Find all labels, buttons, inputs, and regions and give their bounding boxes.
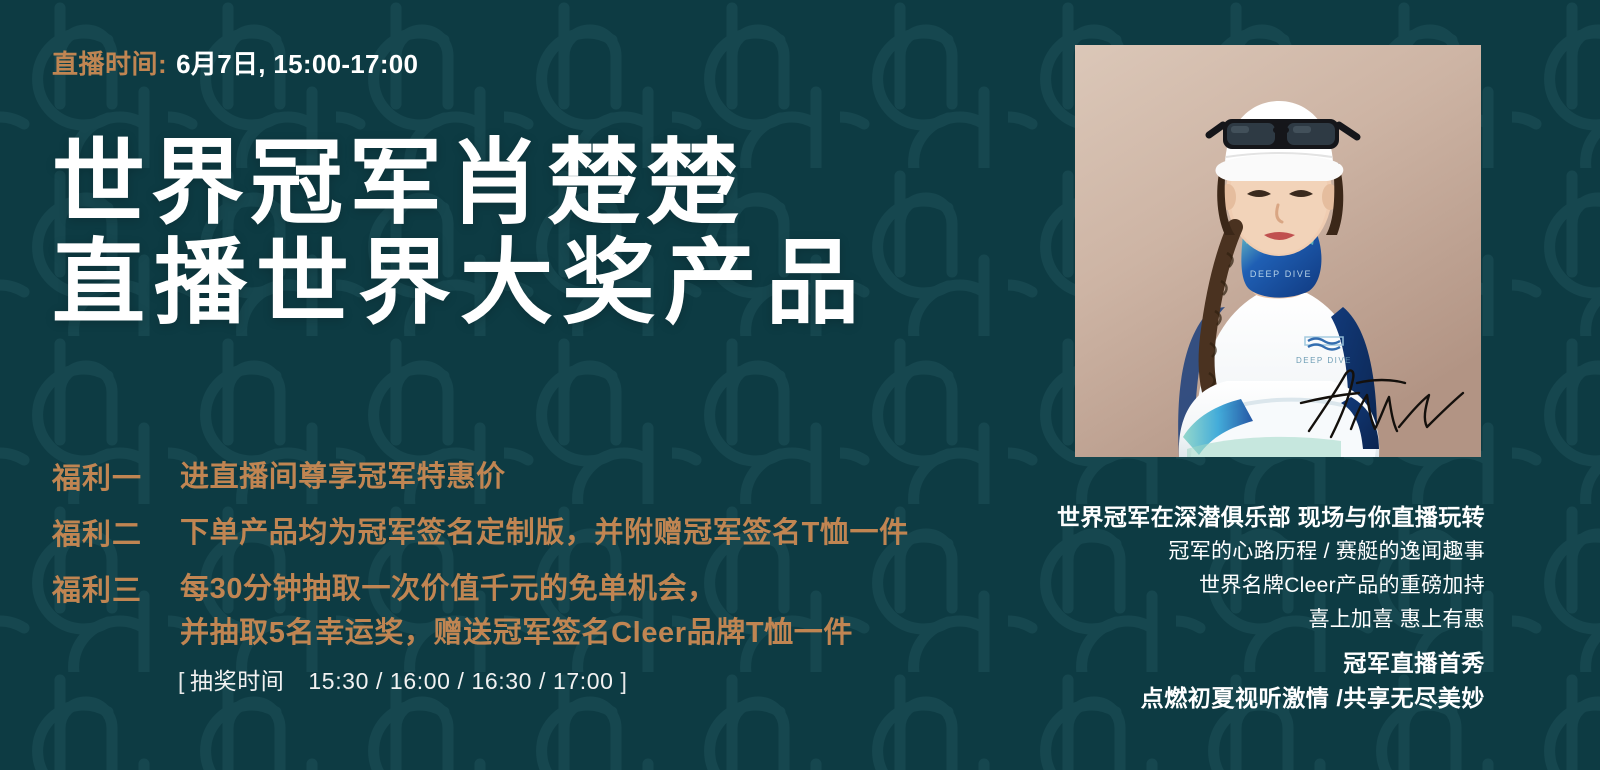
right-text-spacer (1040, 637, 1485, 646)
right-sub-line-2: 世界名牌Cleer产品的重磅加持 (1040, 569, 1485, 603)
benefit-text-line: 每30分钟抽取一次价值千元的免单机会， (180, 567, 853, 611)
headline-line-1: 世界冠军肖楚楚 (52, 133, 868, 233)
draw-time-bracket-close: ] (621, 668, 628, 695)
benefit-label: 福利二 (52, 511, 180, 553)
right-headline: 世界冠军在深潜俱乐部 现场与你直播玩转 (1040, 500, 1485, 535)
athlete-photo: DEEP DIVE (1075, 45, 1481, 457)
benefit-text: 下单产品均为冠军签名定制版，并附赠冠军签名T恤一件 (180, 511, 909, 555)
live-time-row: 直播时间: 6月7日, 15:00-17:00 (52, 44, 418, 81)
benefit-item: 福利二 下单产品均为冠军签名定制版，并附赠冠军签名T恤一件 (52, 511, 909, 555)
benefit-text: 每30分钟抽取一次价值千元的免单机会， 并抽取5名幸运奖，赠送冠军签名Cleer… (180, 567, 853, 655)
benefit-text-line: 下单产品均为冠军签名定制版，并附赠冠军签名T恤一件 (180, 511, 909, 555)
page-title: 世界冠军肖楚楚 直播世界大奖产品 (52, 133, 868, 334)
benefit-item: 福利一 进直播间尊享冠军特惠价 (52, 455, 909, 499)
right-sub-line-1: 冠军的心路历程 / 赛艇的逸闻趣事 (1040, 535, 1485, 569)
draw-time-note: [ 抽奖时间 15:30 / 16:00 / 16:30 / 17:00 ] (178, 662, 628, 696)
headline-line-2: 直播世界大奖产品 (52, 233, 868, 333)
live-time-label: 直播时间: (52, 44, 167, 81)
right-strong-line-2: 点燃初夏视听激情 /共享无尽美妙 (1040, 681, 1485, 717)
benefit-text: 进直播间尊享冠军特惠价 (180, 455, 506, 499)
benefit-text-line: 进直播间尊享冠军特惠价 (180, 455, 506, 499)
benefit-label: 福利三 (52, 567, 180, 609)
right-text-block: 世界冠军在深潜俱乐部 现场与你直播玩转 冠军的心路历程 / 赛艇的逸闻趣事 世界… (1040, 500, 1485, 717)
svg-text:DEEP DIVE: DEEP DIVE (1250, 269, 1312, 279)
promo-banner: 直播时间: 6月7日, 15:00-17:00 世界冠军肖楚楚 直播世界大奖产品… (0, 0, 1600, 770)
left-content-column: 直播时间: 6月7日, 15:00-17:00 世界冠军肖楚楚 直播世界大奖产品… (0, 0, 1060, 770)
benefit-text-line: 并抽取5名幸运奖，赠送冠军签名Cleer品牌T恤一件 (180, 611, 853, 655)
benefits-list: 福利一 进直播间尊享冠军特惠价 福利二 下单产品均为冠军签名定制版，并附赠冠军签… (52, 455, 909, 667)
svg-text:DEEP DIVE: DEEP DIVE (1296, 356, 1352, 365)
right-sub-line-3: 喜上加喜 惠上有惠 (1040, 603, 1485, 637)
right-strong-line-1: 冠军直播首秀 (1040, 646, 1485, 682)
live-time-value: 6月7日, 15:00-17:00 (176, 44, 418, 81)
athlete-photo-illustration: DEEP DIVE (1075, 45, 1481, 457)
draw-time-bracket-open: [ (178, 668, 185, 695)
draw-time-label: 抽奖时间 (190, 662, 284, 696)
benefit-item: 福利三 每30分钟抽取一次价值千元的免单机会， 并抽取5名幸运奖，赠送冠军签名C… (52, 567, 909, 655)
draw-time-values: 15:30 / 16:00 / 16:30 / 17:00 (308, 668, 613, 695)
benefit-label: 福利一 (52, 455, 180, 497)
